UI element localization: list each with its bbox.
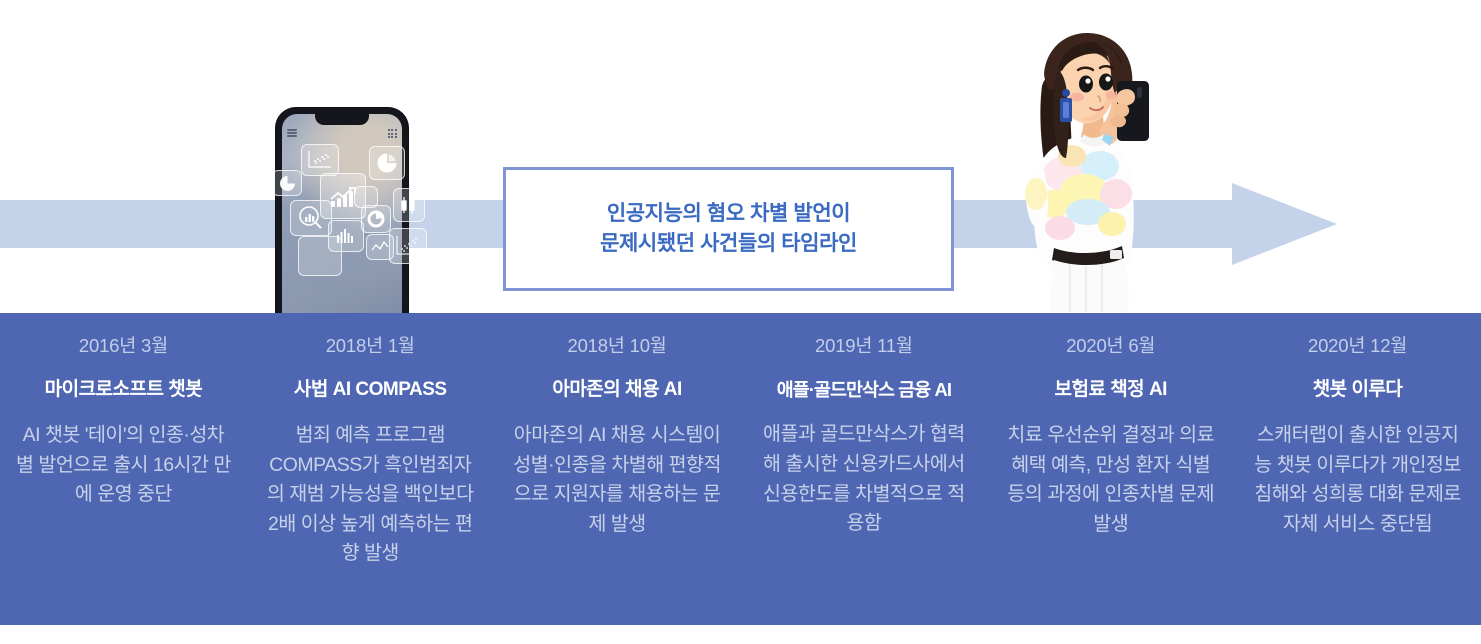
event-description: 범죄 예측 프로그램 COMPASS가 흑인범죄자의 재범 가능성을 백인보다 …: [261, 421, 480, 569]
scatter-plot-icon: [389, 228, 427, 264]
event-name: 마이크로소프트 챗봇: [14, 379, 233, 402]
event-name: 아마존의 채용 AI: [508, 379, 727, 402]
event-description: 애플과 골드만삭스가 협력해 출시한 신용카드사에서 신용한도를 차별적으로 적…: [754, 420, 973, 539]
blank-tile: [298, 236, 342, 276]
donut-chart-icon: [361, 205, 391, 233]
timeline-title-card: 인공지능의 혐오 차별 발언이 문제시됐던 사건들의 타임라인: [503, 167, 954, 291]
timeline-events-band: 2016년 3월 마이크로소프트 챗봇 AI 챗봇 '테이'의 인종·성차별 발…: [0, 313, 1481, 625]
phone-notch: [315, 111, 369, 125]
infographic-timeline: 인공지능의 혐오 차별 발언이 문제시됐던 사건들의 타임라인 2016년 3월…: [0, 0, 1481, 644]
scatter-chart-icon: [301, 144, 339, 176]
event-date: 2018년 1월: [261, 335, 480, 357]
timeline-arrow-head-icon: [1232, 183, 1337, 265]
candlestick-chart-icon: [393, 188, 425, 222]
timeline-event-3[interactable]: 2018년 10월 아마존의 채용 AI 아마존의 AI 채용 시스템이 성별·…: [494, 313, 741, 625]
hamburger-menu-icon: [287, 129, 297, 137]
event-date: 2019년 11월: [754, 335, 973, 357]
timeline-event-5[interactable]: 2020년 6월 보험료 책정 AI 치료 우선순위 결정과 의료 혜택 예측,…: [987, 313, 1234, 625]
magnifier-bar-chart-icon: [290, 200, 332, 236]
timeline-event-4[interactable]: 2019년 11월 애플·골드만삭스 금융 AI 애플과 골드만삭스가 협력해 …: [740, 313, 987, 625]
event-name: 챗봇 이루다: [1248, 379, 1467, 402]
event-date: 2020년 6월: [1001, 335, 1220, 357]
grid-menu-icon: [388, 129, 397, 138]
timeline-event-2[interactable]: 2018년 1월 사법 AI COMPASS 범죄 예측 프로그램 COMPAS…: [247, 313, 494, 625]
woman-selfie-illustration: [988, 14, 1184, 312]
smartphone-illustration: [276, 108, 408, 320]
event-date: 2018년 10월: [508, 335, 727, 357]
event-description: 스캐터랩이 출시한 인공지능 챗봇 이루다가 개인정보 침해와 성희롱 대화 문…: [1248, 421, 1467, 540]
event-description: 치료 우선순위 결정과 의료 혜택 예측, 만성 환자 식별 등의 과정에 인종…: [1001, 421, 1220, 540]
timeline-event-6[interactable]: 2020년 12월 챗봇 이루다 스캐터랩이 출시한 인공지능 챗봇 이루다가 …: [1234, 313, 1481, 625]
pie-chart-icon-large: [369, 146, 405, 180]
pie-chart-icon-small: [272, 170, 302, 196]
blank-tile: [354, 186, 378, 208]
event-date: 2020년 12월: [1248, 335, 1467, 357]
page-title: 인공지능의 혐오 차별 발언이 문제시됐던 사건들의 타임라인: [600, 199, 857, 259]
event-description: 아마존의 AI 채용 시스템이 성별·인종을 차별해 편향적으로 지원자를 채용…: [508, 421, 727, 540]
phone-screen-ui: [276, 108, 408, 320]
event-date: 2016년 3월: [14, 335, 233, 357]
event-name: 애플·골드만삭스 금융 AI: [754, 379, 973, 401]
event-description: AI 챗봇 '테이'의 인종·성차별 발언으로 출시 16시간 만에 운영 중단: [14, 421, 233, 510]
event-name: 보험료 책정 AI: [1001, 379, 1220, 402]
event-name: 사법 AI COMPASS: [261, 379, 480, 402]
timeline-event-1[interactable]: 2016년 3월 마이크로소프트 챗봇 AI 챗봇 '테이'의 인종·성차별 발…: [0, 313, 247, 625]
